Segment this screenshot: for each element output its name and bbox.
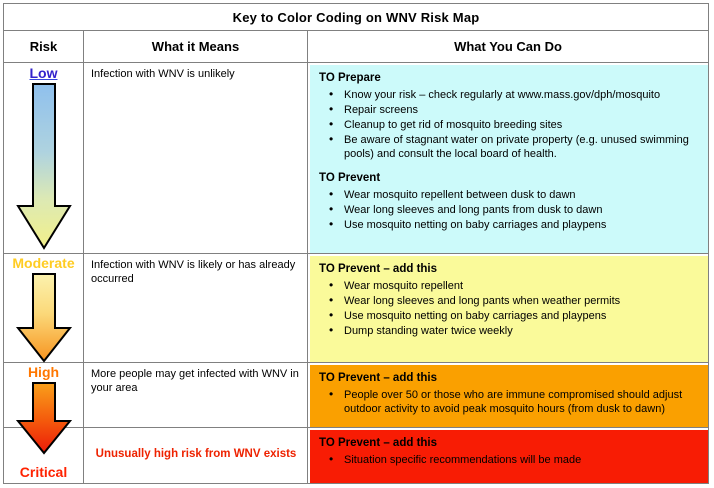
column-header-what-it-means: What it Means bbox=[84, 31, 308, 62]
list-item: People over 50 or those who are immune c… bbox=[319, 388, 700, 416]
list-item: Use mosquito netting on baby carriages a… bbox=[319, 218, 700, 233]
action-panel-low: TO Prepare Know your risk – check regula… bbox=[310, 65, 708, 253]
list-item: Wear mosquito repellent between dusk to … bbox=[319, 188, 700, 203]
actions-cell-high: TO Prevent – add this People over 50 or … bbox=[308, 363, 708, 427]
down-arrow-icon-high bbox=[14, 381, 74, 456]
column-header-what-it-means-label: What it Means bbox=[152, 39, 239, 54]
risk-cell-high: High bbox=[4, 363, 84, 427]
list-item: Dump standing water twice weekly bbox=[319, 324, 700, 339]
column-header-what-you-can-do-label: What You Can Do bbox=[454, 39, 562, 54]
action-list-high: People over 50 or those who are immune c… bbox=[319, 388, 700, 416]
action-heading-low-prevent: TO Prevent bbox=[319, 171, 700, 185]
list-item: Be aware of stagnant water on private pr… bbox=[319, 133, 700, 162]
risk-cell-moderate: Moderate bbox=[4, 254, 84, 362]
means-text-high: More people may get infected with WNV in… bbox=[91, 368, 301, 395]
risk-level-label-low: Low bbox=[4, 66, 83, 81]
action-heading-high: TO Prevent – add this bbox=[319, 371, 700, 385]
action-list-low-prevent: Wear mosquito repellent between dusk to … bbox=[319, 188, 700, 233]
list-item: Situation specific recommendations will … bbox=[319, 453, 700, 467]
down-arrow-icon-moderate bbox=[14, 272, 74, 364]
actions-cell-low: TO Prepare Know your risk – check regula… bbox=[308, 63, 708, 253]
actions-cell-critical: TO Prevent – add this Situation specific… bbox=[308, 428, 708, 483]
table-row-low: Low Infection with WNV is unlike bbox=[4, 63, 708, 254]
risk-level-label-high: High bbox=[4, 365, 83, 380]
action-panel-moderate: TO Prevent – add this Wear mosquito repe… bbox=[310, 256, 708, 362]
action-list-low-prepare: Know your risk – check regularly at www.… bbox=[319, 88, 700, 162]
table-title-row: Key to Color Coding on WNV Risk Map bbox=[4, 4, 708, 31]
action-list-critical: Situation specific recommendations will … bbox=[319, 453, 700, 467]
list-item: Wear long sleeves and long pants when we… bbox=[319, 294, 700, 309]
list-item: Cleanup to get rid of mosquito breeding … bbox=[319, 118, 700, 133]
table-row-moderate: Moderate Infection with WNV is likely or… bbox=[4, 254, 708, 363]
action-list-moderate: Wear mosquito repellent Wear long sleeve… bbox=[319, 279, 700, 339]
list-item: Repair screens bbox=[319, 103, 700, 118]
action-heading-critical: TO Prevent – add this bbox=[319, 436, 700, 450]
means-cell-critical: Unusually high risk from WNV exists bbox=[84, 428, 308, 483]
list-item: Know your risk – check regularly at www.… bbox=[319, 88, 700, 103]
table-row-critical: Critical Unusually high risk from WNV ex… bbox=[4, 428, 708, 483]
column-header-risk-label: Risk bbox=[30, 39, 57, 54]
risk-level-label-critical: Critical bbox=[4, 465, 83, 480]
list-item: Use mosquito netting on baby carriages a… bbox=[319, 309, 700, 324]
means-text-critical: Unusually high risk from WNV exists bbox=[91, 433, 301, 461]
means-cell-high: More people may get infected with WNV in… bbox=[84, 363, 308, 427]
means-cell-moderate: Infection with WNV is likely or has alre… bbox=[84, 254, 308, 362]
action-heading-low-prepare: TO Prepare bbox=[319, 71, 700, 85]
means-text-low: Infection with WNV is unlikely bbox=[91, 68, 301, 82]
table-row-high: High More people may get infected with W… bbox=[4, 363, 708, 428]
list-item: Wear mosquito repellent bbox=[319, 279, 700, 294]
action-heading-moderate: TO Prevent – add this bbox=[319, 262, 700, 276]
down-arrow-icon-low bbox=[14, 82, 74, 252]
column-header-risk: Risk bbox=[4, 31, 84, 62]
column-header-what-you-can-do: What You Can Do bbox=[308, 31, 708, 62]
risk-key-table: Key to Color Coding on WNV Risk Map Risk… bbox=[3, 3, 709, 484]
action-panel-critical: TO Prevent – add this Situation specific… bbox=[310, 430, 708, 483]
page-title: Key to Color Coding on WNV Risk Map bbox=[233, 10, 480, 25]
list-item: Wear long sleeves and long pants from du… bbox=[319, 203, 700, 218]
means-cell-low: Infection with WNV is unlikely bbox=[84, 63, 308, 253]
table-header-row: Risk What it Means What You Can Do bbox=[4, 31, 708, 63]
action-panel-high: TO Prevent – add this People over 50 or … bbox=[310, 365, 708, 427]
means-text-moderate: Infection with WNV is likely or has alre… bbox=[91, 259, 301, 286]
risk-cell-low: Low bbox=[4, 63, 84, 253]
risk-level-label-moderate: Moderate bbox=[4, 256, 83, 271]
actions-cell-moderate: TO Prevent – add this Wear mosquito repe… bbox=[308, 254, 708, 362]
